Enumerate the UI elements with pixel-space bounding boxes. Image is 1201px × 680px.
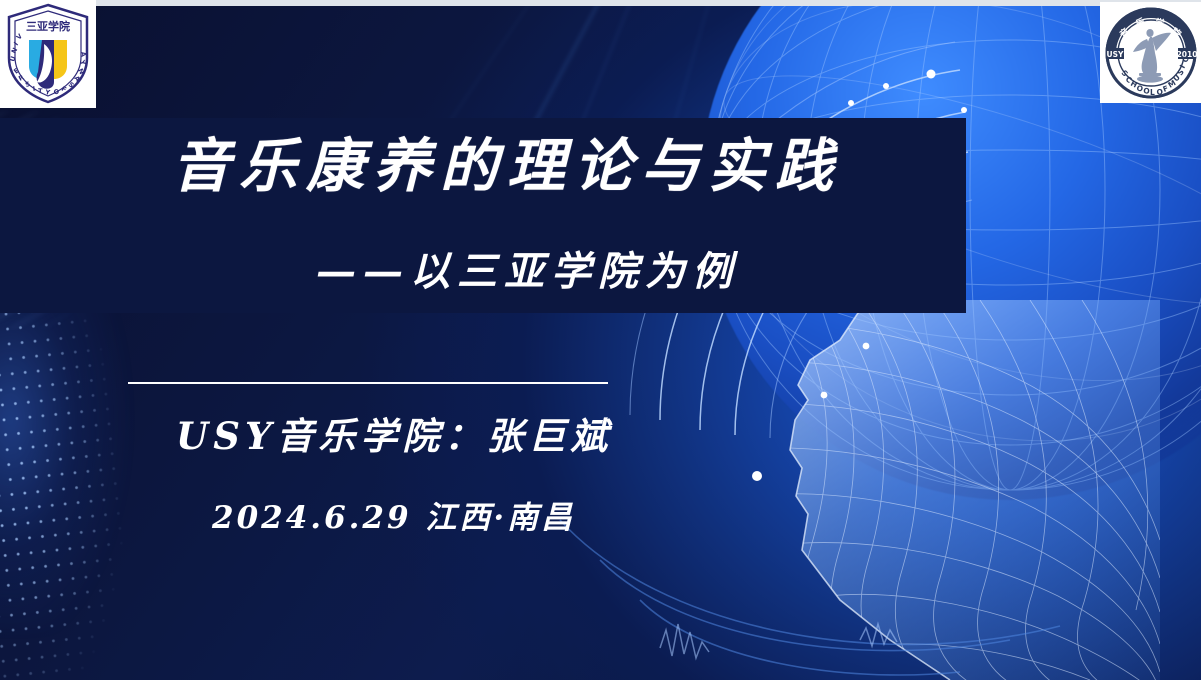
svg-text:三亚学院: 三亚学院 bbox=[26, 19, 70, 33]
top-edge-strip bbox=[0, 0, 1201, 6]
page-title: 音乐康养的理论与实践 bbox=[172, 137, 932, 195]
svg-text:L: L bbox=[1150, 88, 1155, 97]
sanya-shield-icon: 三亚学院 U N I V E R S I T Y O F S A N Y bbox=[2, 2, 94, 106]
school-of-music-seal-icon: 音 乐 学 院 USY 2010 S C H O O bbox=[1103, 5, 1199, 101]
presentation-slide: 音乐康养的理论与实践 ——以三亚学院为例 USY音乐学院：张巨斌 2024.6.… bbox=[0, 0, 1201, 680]
university-of-sanya-logo: 三亚学院 U N I V E R S I T Y O F S A N Y bbox=[0, 0, 96, 108]
orbital-arc-nodes bbox=[0, 0, 1201, 680]
horizontal-divider bbox=[128, 382, 608, 384]
school-of-music-logo: 音 乐 学 院 USY 2010 S C H O O bbox=[1100, 2, 1201, 103]
svg-text:USY: USY bbox=[1106, 50, 1123, 59]
page-subtitle: ——以三亚学院为例 bbox=[316, 252, 739, 292]
date-venue-line: 2024.6.29 江西·南昌 bbox=[212, 503, 575, 534]
presenter-line: USY音乐学院：张巨斌 bbox=[176, 418, 612, 455]
